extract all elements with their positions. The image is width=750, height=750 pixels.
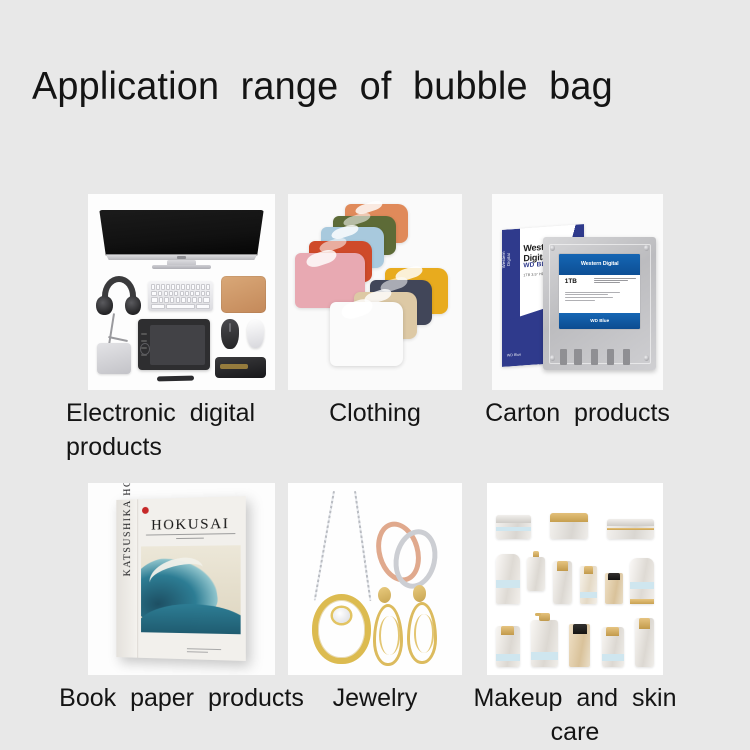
lotion-tube-icon: [630, 558, 654, 604]
category-caption-carton-products: Carton products: [462, 396, 693, 430]
gold-pendant-icon: [312, 594, 371, 664]
foundation-bottle-icon: [605, 573, 622, 604]
poster-root: Application range of bubble bag: [0, 0, 750, 750]
drive-screw-icon: [644, 355, 649, 361]
drive-label-fineprint: [594, 278, 636, 285]
wd-box-spine-text: Western Digital: [502, 249, 510, 270]
cosmetics-row-top: [496, 500, 654, 538]
lotion-bottle-icon: [496, 626, 520, 667]
great-wave-artwork: [141, 546, 240, 635]
desk-flatlay-illustration: [88, 194, 275, 390]
tshirt-stacks-illustration: [288, 194, 462, 390]
wd-hard-drive-illustration: Western Digital Western Digital WD BLUE …: [492, 194, 663, 390]
book-cover-subtitle-lines: [144, 534, 238, 542]
drive-label-footer: WD Blue: [590, 318, 609, 323]
tshirt-white: [330, 302, 403, 367]
cosmetics-row-bottom: [496, 610, 654, 668]
jewelry-illustration: [288, 483, 462, 675]
drive-screw-icon: [550, 245, 555, 251]
book-spine: KATSUSHIKA HOKUSAI: [117, 500, 139, 659]
external-hard-drive-icon: [97, 343, 131, 374]
thumbnail-electronic-digital-products[interactable]: [88, 194, 275, 390]
gold-lid-jar-icon: [550, 513, 588, 538]
stylus-pen-icon: [157, 376, 195, 382]
drive-capacity-text: 1TB: [565, 278, 577, 285]
pump-bottle-icon: [531, 620, 558, 667]
category-card-book-paper-products[interactable]: KATSUSHIKA HOKUSAI HOKUSAI: [88, 483, 275, 675]
thumbnail-clothing[interactable]: [288, 194, 462, 390]
book-publisher-lines: [187, 649, 221, 656]
pencil-case-icon: [215, 357, 265, 379]
hokusai-book-illustration: KATSUSHIKA HOKUSAI HOKUSAI: [88, 483, 275, 675]
cosmetics-row-middle: [496, 546, 654, 604]
gold-earring-right: [406, 585, 432, 658]
squeeze-tube-icon: [496, 554, 520, 604]
category-caption-makeup-and-skin-care: Makeup and skin care: [457, 681, 693, 749]
category-card-clothing[interactable]: Clothing: [288, 194, 462, 390]
drawing-tablet-icon: [138, 319, 209, 370]
necklace-chain-right: [354, 491, 371, 601]
book-red-dot-icon: [143, 507, 150, 514]
category-card-electronic-digital-products[interactable]: Electronic digital products: [88, 194, 275, 390]
toner-bottle-icon: [553, 561, 572, 604]
category-card-makeup-and-skin-care[interactable]: Makeup and skin care: [487, 483, 663, 675]
imac-monitor-icon: [99, 210, 264, 269]
cream-jar-icon: [496, 515, 531, 539]
white-mouse-icon: [247, 320, 264, 347]
book-spine-text: KATSUSHIKA HOKUSAI: [122, 503, 132, 577]
gold-earring-left: [372, 587, 398, 660]
wd-hard-disk-drive: Western Digital 1TB WD Blue: [543, 237, 656, 370]
drive-screw-icon: [644, 245, 649, 251]
product-category-grid: Electronic digital products Clothing: [0, 0, 750, 750]
book-cover: KATSUSHIKA HOKUSAI HOKUSAI: [117, 496, 246, 661]
thumbnail-makeup-and-skin-care[interactable]: [487, 483, 663, 675]
cosmetics-illustration: [487, 483, 663, 675]
liquid-foundation-icon: [569, 624, 590, 668]
drive-label-brand: Western Digital: [581, 261, 619, 267]
drive-top-label: Western Digital 1TB WD Blue: [559, 254, 640, 329]
category-card-jewelry[interactable]: Jewelry: [288, 483, 462, 675]
essence-jar-icon: [602, 627, 624, 667]
drive-connector-pins: [555, 349, 645, 365]
category-card-carton-products[interactable]: Western Digital Western Digital WD BLUE …: [492, 194, 663, 390]
mist-bottle-icon: [635, 618, 654, 668]
keyboard-icon: [148, 281, 213, 310]
headphones-icon: [97, 276, 140, 317]
black-mouse-icon: [221, 319, 240, 348]
mousepad-icon: [221, 276, 266, 312]
essence-bottle-icon: [580, 566, 597, 604]
thumbnail-book-paper-products[interactable]: KATSUSHIKA HOKUSAI HOKUSAI: [88, 483, 275, 675]
necklace-chain-left: [314, 491, 335, 601]
book-cover-title: HOKUSAI: [141, 516, 240, 535]
thumbnail-carton-products[interactable]: Western Digital Western Digital WD BLUE …: [492, 194, 663, 390]
pendant-gem-icon: [333, 608, 350, 623]
serum-dropper-icon: [527, 557, 544, 592]
wide-cream-jar-icon: [607, 519, 655, 539]
thumbnail-jewelry[interactable]: [288, 483, 462, 675]
category-caption-clothing: Clothing: [258, 396, 492, 430]
drive-label-specs: [565, 292, 620, 302]
